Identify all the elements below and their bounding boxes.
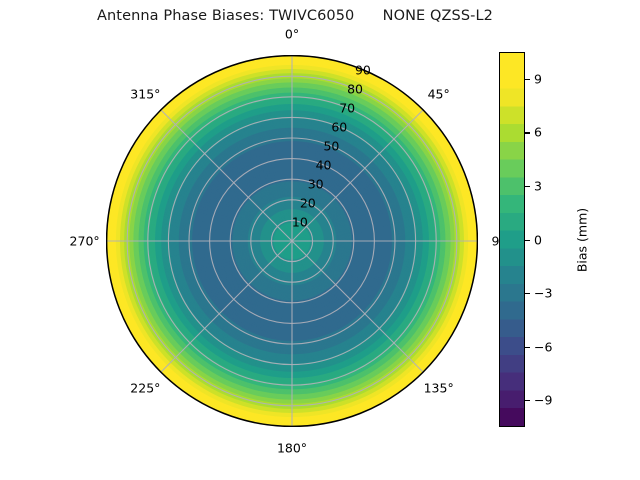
colorbar-tick-mark	[525, 186, 530, 187]
radial-label-40: 40	[316, 157, 332, 172]
colorbar-gradient	[500, 53, 524, 426]
colorbar-tick-mark	[525, 79, 530, 80]
radial-label-60: 60	[331, 119, 347, 134]
colorbar-tick-label: −6	[534, 339, 552, 354]
colorbar-tick-mark	[525, 293, 530, 294]
colorbar-tick-label: 3	[534, 178, 542, 193]
colorbar-label: Bias (mm)	[575, 208, 590, 272]
colorbar-tick-mark	[525, 240, 530, 241]
colorbar-tick-label: 0	[534, 232, 542, 247]
page-title: Antenna Phase Biases: TWIVC6050 NONE QZS…	[0, 8, 590, 24]
polar-axes[interactable]	[106, 55, 478, 427]
colorbar-tick-mark	[525, 400, 530, 401]
radial-label-50: 50	[323, 138, 339, 153]
colorbar-tick-label: −9	[534, 393, 552, 408]
radial-label-30: 30	[308, 176, 324, 191]
colorbar[interactable]: −9−6−30369 Bias (mm)	[499, 52, 619, 428]
azimuth-label-45: 45°	[428, 87, 450, 102]
radial-label-80: 80	[347, 81, 363, 96]
radial-label-70: 70	[339, 100, 355, 115]
colorbar-tick-mark	[525, 132, 530, 133]
azimuth-label-180: 180°	[277, 441, 307, 456]
azimuth-label-135: 135°	[424, 380, 454, 395]
azimuth-label-315: 315°	[130, 87, 160, 102]
radial-label-10: 10	[292, 214, 308, 229]
colorbar-tick-label: 9	[534, 71, 542, 86]
colorbar-tick-label: −3	[534, 286, 552, 301]
colorbar-tick-mark	[525, 347, 530, 348]
figure-canvas: Antenna Phase Biases: TWIVC6050 NONE QZS…	[0, 0, 640, 480]
azimuth-label-225: 225°	[130, 380, 160, 395]
polar-plot-svg	[106, 55, 478, 427]
radial-label-20: 20	[300, 195, 316, 210]
azimuth-label-0: 0°	[285, 26, 299, 41]
colorbar-tick-label: 6	[534, 125, 542, 140]
radial-label-90: 90	[355, 62, 371, 77]
azimuth-label-270: 270°	[70, 234, 100, 249]
colorbar-gradient-box	[499, 52, 525, 427]
